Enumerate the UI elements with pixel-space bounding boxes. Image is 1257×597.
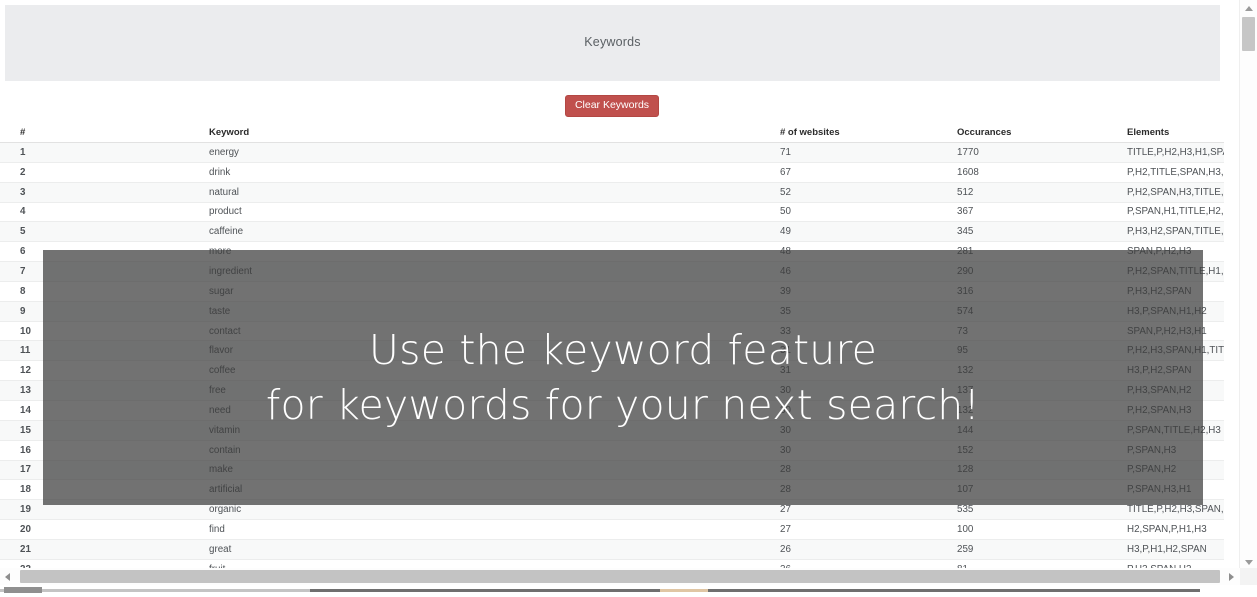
cell-index: 3 xyxy=(0,182,115,202)
keywords-app: Keywords Clear Keywords # Keyword # of w… xyxy=(0,0,1257,597)
vertical-scrollbar[interactable] xyxy=(1239,0,1257,578)
scroll-right-arrow-icon[interactable] xyxy=(1224,568,1239,585)
cell-keyword: sugar xyxy=(115,281,769,301)
keywords-table: # Keyword # of websites Occurances Eleme… xyxy=(0,123,1224,572)
cell-index: 7 xyxy=(0,262,115,282)
cell-index: 16 xyxy=(0,440,115,460)
table-body: 1energy711770TITLE,P,H2,H3,H1,SPAN2drink… xyxy=(0,143,1224,573)
table-header: # Keyword # of websites Occurances Eleme… xyxy=(0,123,1224,143)
cell-websites: 50 xyxy=(769,202,944,222)
cell-elements: P,H2,SPAN,TITLE,H1,H3 xyxy=(1109,262,1224,282)
cell-index: 8 xyxy=(0,281,115,301)
cell-index: 19 xyxy=(0,500,115,520)
scrollbar-corner xyxy=(1240,568,1257,585)
cell-index: 2 xyxy=(0,162,115,182)
cell-keyword: find xyxy=(115,520,769,540)
bottom-strip-highlight-segment xyxy=(660,589,708,592)
cell-occurances: 132 xyxy=(944,400,1109,420)
cell-websites: 27 xyxy=(769,500,944,520)
cell-websites: 52 xyxy=(769,182,944,202)
table-row[interactable]: 13free30137P,H3,SPAN,H2 xyxy=(0,381,1224,401)
table-row[interactable]: 5caffeine49345P,H3,H2,SPAN,TITLE,H1 xyxy=(0,222,1224,242)
table-row[interactable]: 4product50367P,SPAN,H1,TITLE,H2,H3 xyxy=(0,202,1224,222)
cell-index: 13 xyxy=(0,381,115,401)
table-row[interactable]: 19organic27535TITLE,P,H2,H3,SPAN,H1 xyxy=(0,500,1224,520)
cell-keyword: natural xyxy=(115,182,769,202)
cell-index: 4 xyxy=(0,202,115,222)
cell-occurances: 152 xyxy=(944,440,1109,460)
table-row[interactable]: 18artificial28107P,SPAN,H3,H1 xyxy=(0,480,1224,500)
cell-occurances: 345 xyxy=(944,222,1109,242)
cell-occurances: 137 xyxy=(944,381,1109,401)
cell-websites: 39 xyxy=(769,281,944,301)
cell-keyword: artificial xyxy=(115,480,769,500)
cell-websites: 26 xyxy=(769,539,944,559)
cell-occurances: 281 xyxy=(944,242,1109,262)
cell-keyword: vitamin xyxy=(115,420,769,440)
cell-occurances: 367 xyxy=(944,202,1109,222)
column-header-elements[interactable]: Elements xyxy=(1109,123,1224,143)
cell-occurances: 100 xyxy=(944,520,1109,540)
table-row[interactable]: 3natural52512P,H2,SPAN,H3,TITLE,H1 xyxy=(0,182,1224,202)
cell-index: 17 xyxy=(0,460,115,480)
cell-elements: P,SPAN,H3 xyxy=(1109,440,1224,460)
cell-index: 11 xyxy=(0,341,115,361)
toolbar: Clear Keywords xyxy=(0,95,1224,117)
cell-keyword: free xyxy=(115,381,769,401)
table-row[interactable]: 7ingredient46290P,H2,SPAN,TITLE,H1,H3 xyxy=(0,262,1224,282)
cell-elements: H3,P,H2,SPAN xyxy=(1109,361,1224,381)
cell-websites: 30 xyxy=(769,400,944,420)
cell-websites: 48 xyxy=(769,242,944,262)
page-title: Keywords xyxy=(5,35,1220,49)
scroll-left-arrow-icon[interactable] xyxy=(0,568,15,585)
bottom-strip-light-segment xyxy=(0,589,310,592)
cell-index: 15 xyxy=(0,420,115,440)
column-header-index[interactable]: # xyxy=(0,123,115,143)
vertical-scrollbar-thumb[interactable] xyxy=(1242,17,1255,51)
cell-keyword: flavor xyxy=(115,341,769,361)
cell-occurances: 574 xyxy=(944,301,1109,321)
cell-occurances: 259 xyxy=(944,539,1109,559)
table-row[interactable]: 9taste35574H3,P,SPAN,H1,H2 xyxy=(0,301,1224,321)
cell-keyword: product xyxy=(115,202,769,222)
cell-websites: 46 xyxy=(769,262,944,282)
bottom-strip-left-marker xyxy=(4,587,42,593)
table-row[interactable]: 17make28128P,SPAN,H2 xyxy=(0,460,1224,480)
cell-index: 14 xyxy=(0,400,115,420)
cell-index: 12 xyxy=(0,361,115,381)
cell-index: 5 xyxy=(0,222,115,242)
cell-keyword: taste xyxy=(115,301,769,321)
keywords-table-container[interactable]: # Keyword # of websites Occurances Eleme… xyxy=(0,123,1224,572)
cell-elements: SPAN,P,H2,H3 xyxy=(1109,242,1224,262)
cell-occurances: 128 xyxy=(944,460,1109,480)
cell-websites: 71 xyxy=(769,143,944,163)
cell-elements: P,H3,SPAN,H2 xyxy=(1109,381,1224,401)
window-bottom-strip xyxy=(0,585,1257,597)
table-row[interactable]: 14need30132P,H2,SPAN,H3 xyxy=(0,400,1224,420)
triangle-down-icon xyxy=(1245,560,1253,565)
table-row[interactable]: 8sugar39316P,H3,H2,SPAN xyxy=(0,281,1224,301)
bottom-strip-dark-segment xyxy=(310,589,1200,592)
cell-occurances: 535 xyxy=(944,500,1109,520)
cell-websites: 27 xyxy=(769,520,944,540)
cell-index: 20 xyxy=(0,520,115,540)
cell-occurances: 316 xyxy=(944,281,1109,301)
horizontal-scrollbar[interactable] xyxy=(0,568,1257,585)
cell-occurances: 512 xyxy=(944,182,1109,202)
cell-keyword: great xyxy=(115,539,769,559)
cell-keyword: drink xyxy=(115,162,769,182)
cell-elements: P,H3,H2,SPAN,TITLE,H1 xyxy=(1109,222,1224,242)
column-header-keyword[interactable]: Keyword xyxy=(115,123,769,143)
cell-elements: P,SPAN,TITLE,H2,H3 xyxy=(1109,420,1224,440)
cell-keyword: need xyxy=(115,400,769,420)
cell-websites: 35 xyxy=(769,301,944,321)
triangle-left-icon xyxy=(5,573,10,581)
cell-occurances: 73 xyxy=(944,321,1109,341)
table-row[interactable]: 10contact3373SPAN,P,H2,H3,H1 xyxy=(0,321,1224,341)
cell-websites: 30 xyxy=(769,440,944,460)
page-banner: Keywords xyxy=(5,5,1220,81)
cell-websites: 30 xyxy=(769,381,944,401)
cell-websites: 49 xyxy=(769,222,944,242)
cell-elements: H3,P,H1,H2,SPAN xyxy=(1109,539,1224,559)
cell-keyword: coffee xyxy=(115,361,769,381)
cell-elements: P,H2,SPAN,H3 xyxy=(1109,400,1224,420)
cell-websites: 33 xyxy=(769,321,944,341)
table-row[interactable]: 1energy711770TITLE,P,H2,H3,H1,SPAN xyxy=(0,143,1224,163)
cell-keyword: make xyxy=(115,460,769,480)
cell-websites: 31 xyxy=(769,361,944,381)
cell-keyword: contact xyxy=(115,321,769,341)
cell-occurances: 95 xyxy=(944,341,1109,361)
cell-elements: H2,SPAN,P,H1,H3 xyxy=(1109,520,1224,540)
cell-index: 9 xyxy=(0,301,115,321)
cell-elements: P,SPAN,H1,TITLE,H2,H3 xyxy=(1109,202,1224,222)
cell-elements: P,H3,H2,SPAN xyxy=(1109,281,1224,301)
table-row[interactable]: 12coffee31132H3,P,H2,SPAN xyxy=(0,361,1224,381)
table-header-row: # Keyword # of websites Occurances Eleme… xyxy=(0,123,1224,143)
triangle-up-icon xyxy=(1245,6,1253,11)
cell-index: 6 xyxy=(0,242,115,262)
cell-websites: 67 xyxy=(769,162,944,182)
cell-keyword: contain xyxy=(115,440,769,460)
cell-websites: 30 xyxy=(769,420,944,440)
cell-keyword: organic xyxy=(115,500,769,520)
table-row[interactable]: 15vitamin30144P,SPAN,TITLE,H2,H3 xyxy=(0,420,1224,440)
cell-elements: TITLE,P,H2,H3,SPAN,H1 xyxy=(1109,500,1224,520)
scroll-up-arrow-icon[interactable] xyxy=(1240,0,1257,17)
column-header-websites[interactable]: # of websites xyxy=(769,123,944,143)
triangle-right-icon xyxy=(1229,573,1234,581)
table-row[interactable]: 21great26259H3,P,H1,H2,SPAN xyxy=(0,539,1224,559)
table-row[interactable]: 20find27100H2,SPAN,P,H1,H3 xyxy=(0,520,1224,540)
cell-occurances: 107 xyxy=(944,480,1109,500)
cell-index: 21 xyxy=(0,539,115,559)
cell-index: 18 xyxy=(0,480,115,500)
table-row[interactable]: 2drink671608P,H2,TITLE,SPAN,H3,H1 xyxy=(0,162,1224,182)
cell-occurances: 290 xyxy=(944,262,1109,282)
cell-websites: 28 xyxy=(769,460,944,480)
table-row[interactable]: 11flavor3195P,H2,H3,SPAN,H1,TITLE xyxy=(0,341,1224,361)
cell-occurances: 1770 xyxy=(944,143,1109,163)
cell-elements: P,H2,H3,SPAN,H1,TITLE xyxy=(1109,341,1224,361)
cell-index: 1 xyxy=(0,143,115,163)
cell-keyword: energy xyxy=(115,143,769,163)
cell-elements: SPAN,P,H2,H3,H1 xyxy=(1109,321,1224,341)
cell-index: 10 xyxy=(0,321,115,341)
cell-elements: TITLE,P,H2,H3,H1,SPAN xyxy=(1109,143,1224,163)
clear-keywords-button[interactable]: Clear Keywords xyxy=(565,95,659,117)
cell-websites: 31 xyxy=(769,341,944,361)
cell-occurances: 1608 xyxy=(944,162,1109,182)
column-header-occurances[interactable]: Occurances xyxy=(944,123,1109,143)
cell-elements: P,H2,SPAN,H3,TITLE,H1 xyxy=(1109,182,1224,202)
cell-occurances: 132 xyxy=(944,361,1109,381)
cell-keyword: more xyxy=(115,242,769,262)
table-row[interactable]: 16contain30152P,SPAN,H3 xyxy=(0,440,1224,460)
cell-keyword: caffeine xyxy=(115,222,769,242)
cell-elements: P,SPAN,H3,H1 xyxy=(1109,480,1224,500)
cell-elements: H3,P,SPAN,H1,H2 xyxy=(1109,301,1224,321)
cell-websites: 28 xyxy=(769,480,944,500)
cell-keyword: ingredient xyxy=(115,262,769,282)
table-row[interactable]: 6more48281SPAN,P,H2,H3 xyxy=(0,242,1224,262)
cell-elements: P,H2,TITLE,SPAN,H3,H1 xyxy=(1109,162,1224,182)
cell-elements: P,SPAN,H2 xyxy=(1109,460,1224,480)
cell-occurances: 144 xyxy=(944,420,1109,440)
horizontal-scrollbar-thumb[interactable] xyxy=(20,570,1220,583)
